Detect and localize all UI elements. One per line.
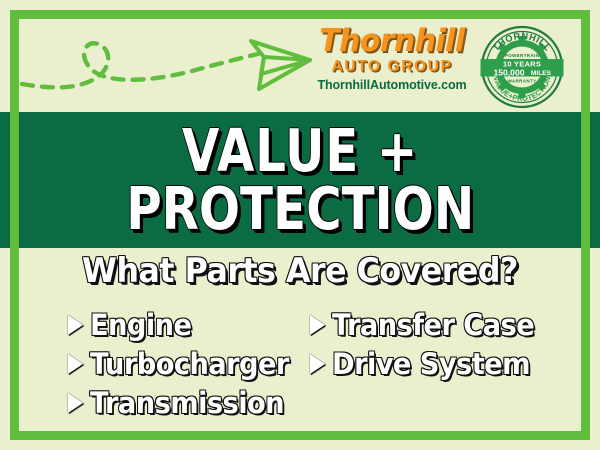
warranty-seal-icon: POWERTRAIN 10 YEARS 150,000 MILES WARRAN… — [479, 24, 565, 110]
triangle-bullet-icon — [68, 393, 83, 413]
seal-miles-unit: MILES — [531, 70, 552, 77]
covered-parts-left-column: Engine Turbocharger Transmission — [68, 305, 301, 422]
part-label: Drive System — [332, 347, 530, 381]
headline-line-2: PROTECTION — [126, 182, 474, 236]
brand-website: ThornhillAutomotive.com — [312, 79, 472, 92]
list-item: Transfer Case — [310, 305, 547, 344]
thornhill-value-protection-ad: Thornhill AUTO GROUP ThornhillAutomotive… — [0, 0, 600, 450]
covered-parts-question: What Parts Are Covered? — [21, 251, 579, 291]
part-label: Engine — [90, 308, 191, 342]
list-item: Drive System — [310, 344, 547, 383]
headline-line-1: VALUE + — [182, 124, 418, 178]
brand-name: Thornhill — [315, 26, 469, 57]
triangle-bullet-icon — [310, 354, 325, 374]
triangle-bullet-icon — [68, 315, 83, 335]
ad-header: Thornhill AUTO GROUP ThornhillAutomotive… — [0, 0, 600, 112]
triangle-bullet-icon — [310, 315, 325, 335]
banner-headline: VALUE + PROTECTION — [0, 112, 600, 248]
dashed-flight-path-with-paper-plane-icon — [18, 16, 318, 108]
list-item: Engine — [68, 305, 301, 344]
part-label: Transmission — [90, 386, 284, 420]
seal-warranty-label: WARRANTY — [508, 79, 537, 84]
list-item: Turbocharger — [68, 344, 301, 383]
thornhill-logo: Thornhill AUTO GROUP ThornhillAutomotive… — [312, 26, 472, 91]
brand-division: AUTO GROUP — [312, 59, 472, 75]
seal-powertrain-label: POWERTRAIN — [505, 53, 540, 58]
part-label: Turbocharger — [90, 347, 289, 381]
triangle-bullet-icon — [68, 354, 83, 374]
list-item: Transmission — [68, 383, 301, 422]
part-label: Transfer Case — [332, 308, 534, 342]
covered-parts-right-column: Transfer Case Drive System — [310, 305, 547, 383]
